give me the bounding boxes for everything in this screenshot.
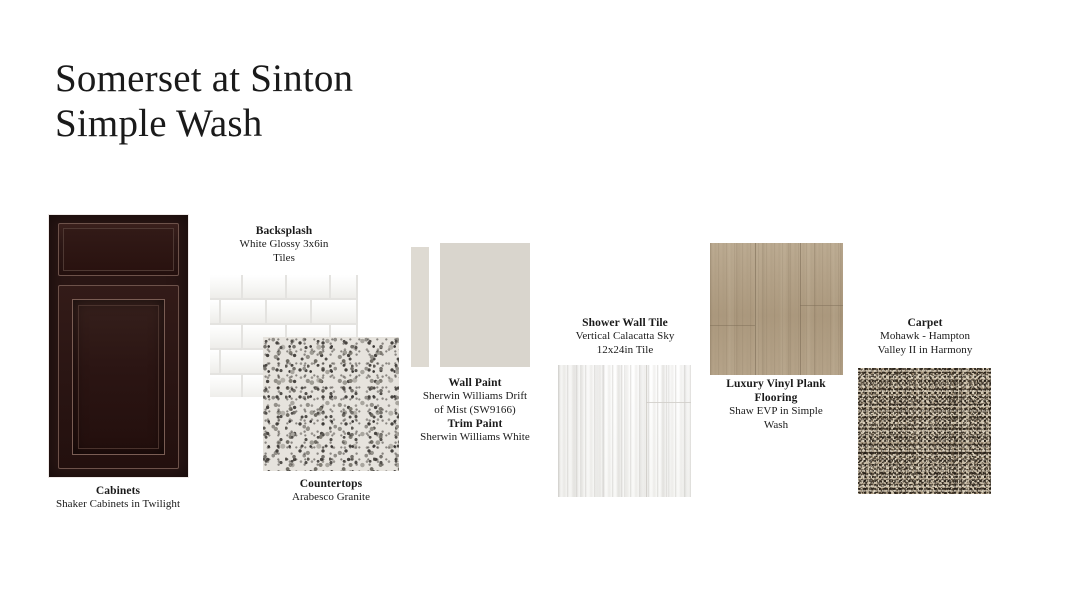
plank-seam xyxy=(710,325,755,326)
caption-title-carpet: Carpet xyxy=(850,316,1000,330)
plank-seam xyxy=(755,243,756,375)
carpet-texture-fine xyxy=(858,368,991,494)
marble-texture xyxy=(558,365,691,497)
plank-seam xyxy=(800,305,843,306)
caption-title-countertops: Countertops xyxy=(251,477,411,491)
caption-spec-luxury-vinyl-plank-0: Shaw EVP in Simple xyxy=(700,405,852,419)
tile-seam-vertical xyxy=(646,365,647,497)
swatch-wall-paint[interactable] xyxy=(440,243,530,367)
plank-seam xyxy=(800,243,801,375)
caption-title-backsplash: Backsplash xyxy=(224,224,344,238)
title-line-1: Somerset at Sinton xyxy=(55,56,615,101)
caption-spec-cabinets-0: Shaker Cabinets in Twilight xyxy=(28,498,208,512)
caption-spec-wall-paint-1: of Mist (SW9166) xyxy=(400,404,550,418)
caption-spec-carpet-0: Mohawk - Hampton xyxy=(850,330,1000,344)
caption-spec-backsplash-0: White Glossy 3x6in xyxy=(224,238,344,252)
swatch-carpet[interactable] xyxy=(858,368,991,494)
tile-row xyxy=(210,300,358,323)
page-title: Somerset at Sinton Simple Wash xyxy=(55,56,615,146)
cabinet-drawer-panel xyxy=(58,223,179,276)
swatch-luxury-vinyl-plank[interactable] xyxy=(710,243,843,375)
caption-title-trim-paint: Trim Paint xyxy=(400,417,550,431)
caption-spec-carpet-1: Valley II in Harmony xyxy=(850,344,1000,358)
swatch-shower-wall-tile[interactable] xyxy=(558,365,691,497)
cabinet-door-panel xyxy=(58,285,179,469)
caption-title-wall-paint: Wall Paint xyxy=(400,376,550,390)
title-line-2: Simple Wash xyxy=(55,101,615,146)
caption-wall-paint: Wall Paint Sherwin Williams Drift of Mis… xyxy=(400,376,550,445)
wood-grain-texture xyxy=(710,243,843,375)
caption-spec-backsplash-1: Tiles xyxy=(224,252,344,266)
caption-countertops: Countertops Arabesco Granite xyxy=(251,477,411,505)
swatch-trim-paint[interactable] xyxy=(411,247,429,367)
caption-backsplash: Backsplash White Glossy 3x6in Tiles xyxy=(224,224,344,265)
caption-spec-countertops-0: Arabesco Granite xyxy=(251,491,411,505)
caption-luxury-vinyl-plank: Luxury Vinyl Plank Flooring Shaw EVP in … xyxy=(700,377,852,432)
caption-carpet: Carpet Mohawk - Hampton Valley II in Har… xyxy=(850,316,1000,357)
swatch-countertops[interactable] xyxy=(263,337,399,471)
caption-spec-trim-paint-0: Sherwin Williams White xyxy=(400,431,550,445)
caption-shower-wall-tile: Shower Wall Tile Vertical Calacatta Sky … xyxy=(550,316,700,357)
caption-spec-luxury-vinyl-plank-1: Wash xyxy=(700,419,852,433)
caption-spec-shower-wall-tile-1: 12x24in Tile xyxy=(550,344,700,358)
caption-title-luxury-vinyl-plank-cont: Flooring xyxy=(700,391,852,405)
caption-spec-shower-wall-tile-0: Vertical Calacatta Sky xyxy=(550,330,700,344)
caption-title-cabinets: Cabinets xyxy=(28,484,208,498)
caption-title-shower-wall-tile: Shower Wall Tile xyxy=(550,316,700,330)
swatch-cabinets[interactable] xyxy=(48,214,189,478)
tile-seam-horizontal xyxy=(646,402,691,403)
caption-cabinets: Cabinets Shaker Cabinets in Twilight xyxy=(28,484,208,512)
caption-title-luxury-vinyl-plank: Luxury Vinyl Plank xyxy=(700,377,852,391)
tile-row xyxy=(210,275,358,298)
granite-texture-fine xyxy=(263,337,399,471)
caption-spec-wall-paint-0: Sherwin Williams Drift xyxy=(400,390,550,404)
